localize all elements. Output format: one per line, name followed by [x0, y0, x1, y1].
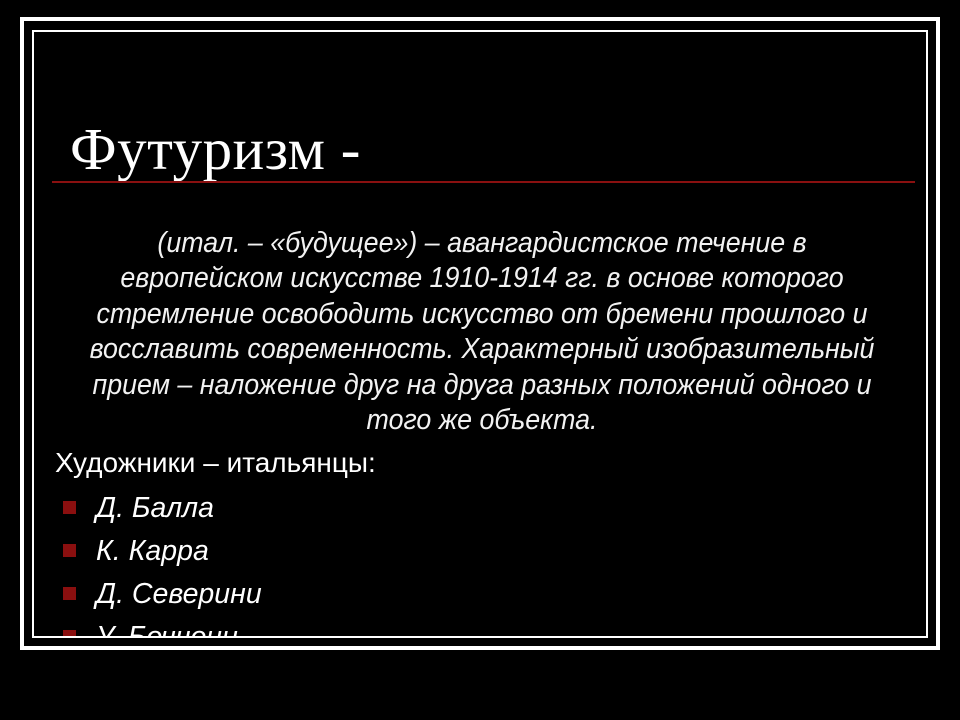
page-title: Футуризм - [70, 119, 890, 181]
artist-list: Д. Балла К. Карра Д. Северини У. Боччони [55, 486, 755, 636]
artist-name: Д. Балла [96, 491, 214, 525]
bullet-square-icon [63, 630, 76, 636]
list-item: Д. Северини [55, 572, 755, 615]
definition-paragraph: (итал. – «будущее») – авангардистское те… [80, 226, 885, 439]
slide-content-area: Футуризм - (итал. – «будущее») – авангар… [34, 32, 926, 636]
bullet-square-icon [63, 544, 76, 557]
list-item: К. Карра [55, 529, 755, 572]
artist-name: У. Боччони [96, 620, 238, 637]
list-item: Д. Балла [55, 486, 755, 529]
bullet-square-icon [63, 501, 76, 514]
title-divider-rule [52, 181, 915, 183]
artist-name: К. Карра [96, 534, 209, 568]
list-item: У. Боччони [55, 615, 755, 636]
artist-name: Д. Северини [96, 577, 262, 611]
presentation-slide: Футуризм - (итал. – «будущее») – авангар… [0, 0, 960, 720]
bullet-square-icon [63, 587, 76, 600]
artists-heading: Художники – итальянцы: [55, 446, 376, 480]
